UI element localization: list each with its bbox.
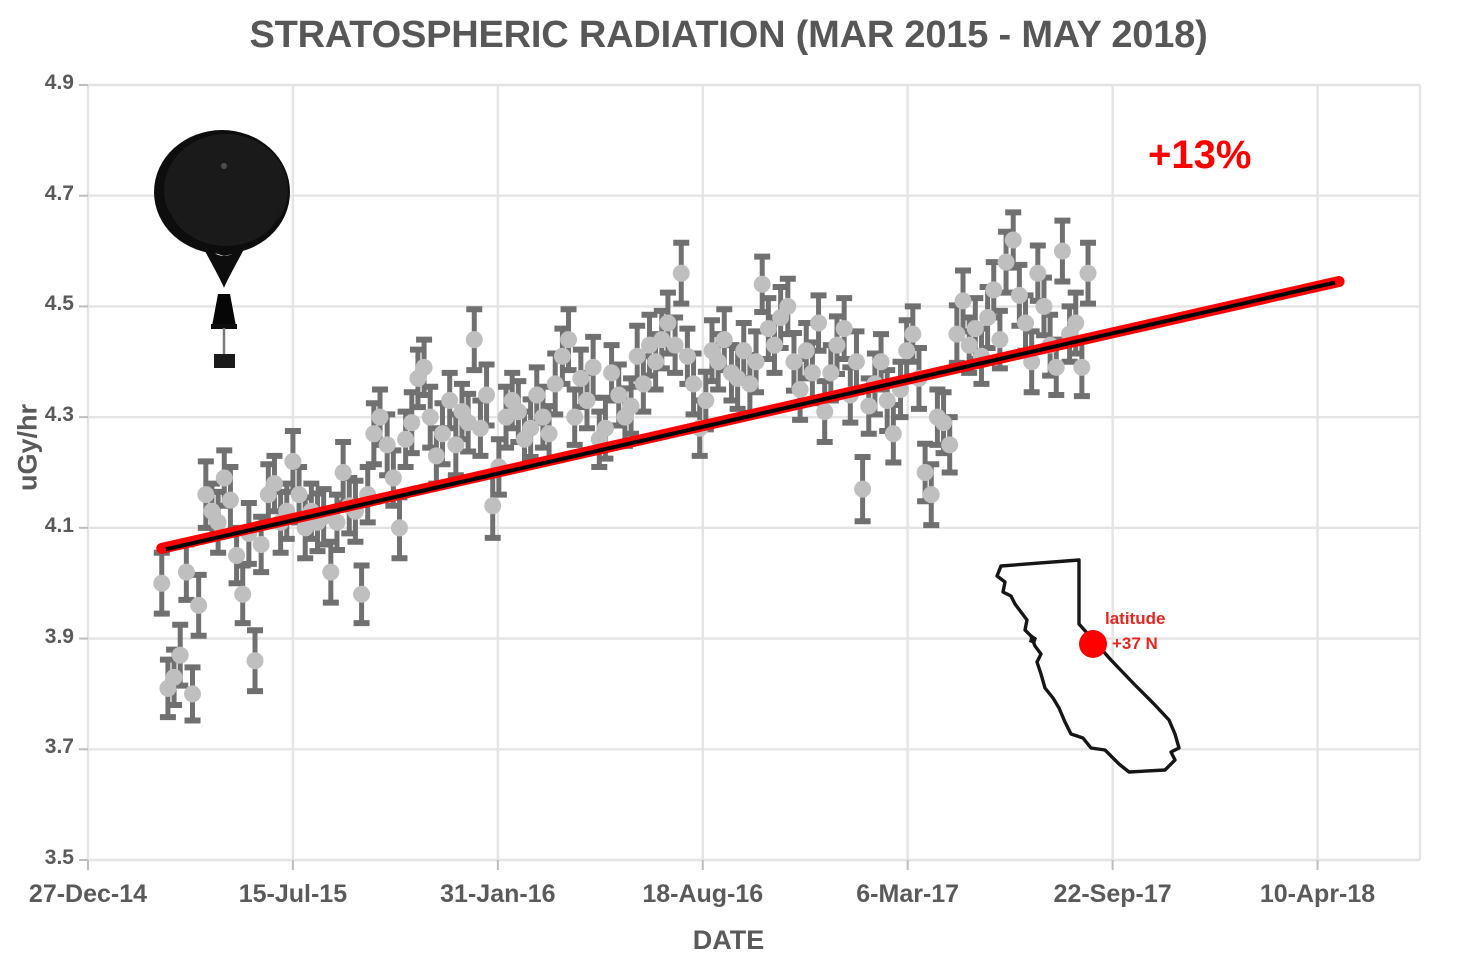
y-axis-tick-label: 4.7 <box>4 182 74 206</box>
california-map-inset: latitude +37 N <box>985 552 1210 787</box>
x-axis-tick-label: 15-Jul-15 <box>183 880 403 909</box>
x-axis-title: DATE <box>0 925 1457 956</box>
y-axis-tick-label: 3.9 <box>4 625 74 649</box>
trend-percentage-annotation: +13% <box>1148 133 1251 178</box>
x-axis-tick-label: 31-Jan-16 <box>388 880 608 909</box>
y-axis-title: uGy/hr <box>13 378 44 518</box>
weather-balloon-icon <box>148 116 300 376</box>
x-axis-tick-label: 27-Dec-14 <box>0 880 198 909</box>
california-map-icon <box>985 552 1210 782</box>
latitude-label-line2: +37 N <box>1112 634 1158 654</box>
x-axis-tick-label: 6-Mar-17 <box>798 880 1018 909</box>
y-axis-tick-label: 4.5 <box>4 292 74 316</box>
radiation-chart: STRATOSPHERIC RADIATION (MAR 2015 - MAY … <box>0 0 1457 965</box>
latitude-marker-dot <box>1079 630 1107 658</box>
x-axis-tick-label: 18-Aug-16 <box>593 880 813 909</box>
latitude-label-line1: latitude <box>1105 609 1165 629</box>
y-axis-tick-label: 4.9 <box>4 71 74 95</box>
x-axis-tick-label: 22-Sep-17 <box>1003 880 1223 909</box>
y-axis-tick-label: 3.5 <box>4 846 74 870</box>
x-axis-tick-label: 10-Apr-18 <box>1208 880 1428 909</box>
y-axis-tick-label: 3.7 <box>4 735 74 759</box>
